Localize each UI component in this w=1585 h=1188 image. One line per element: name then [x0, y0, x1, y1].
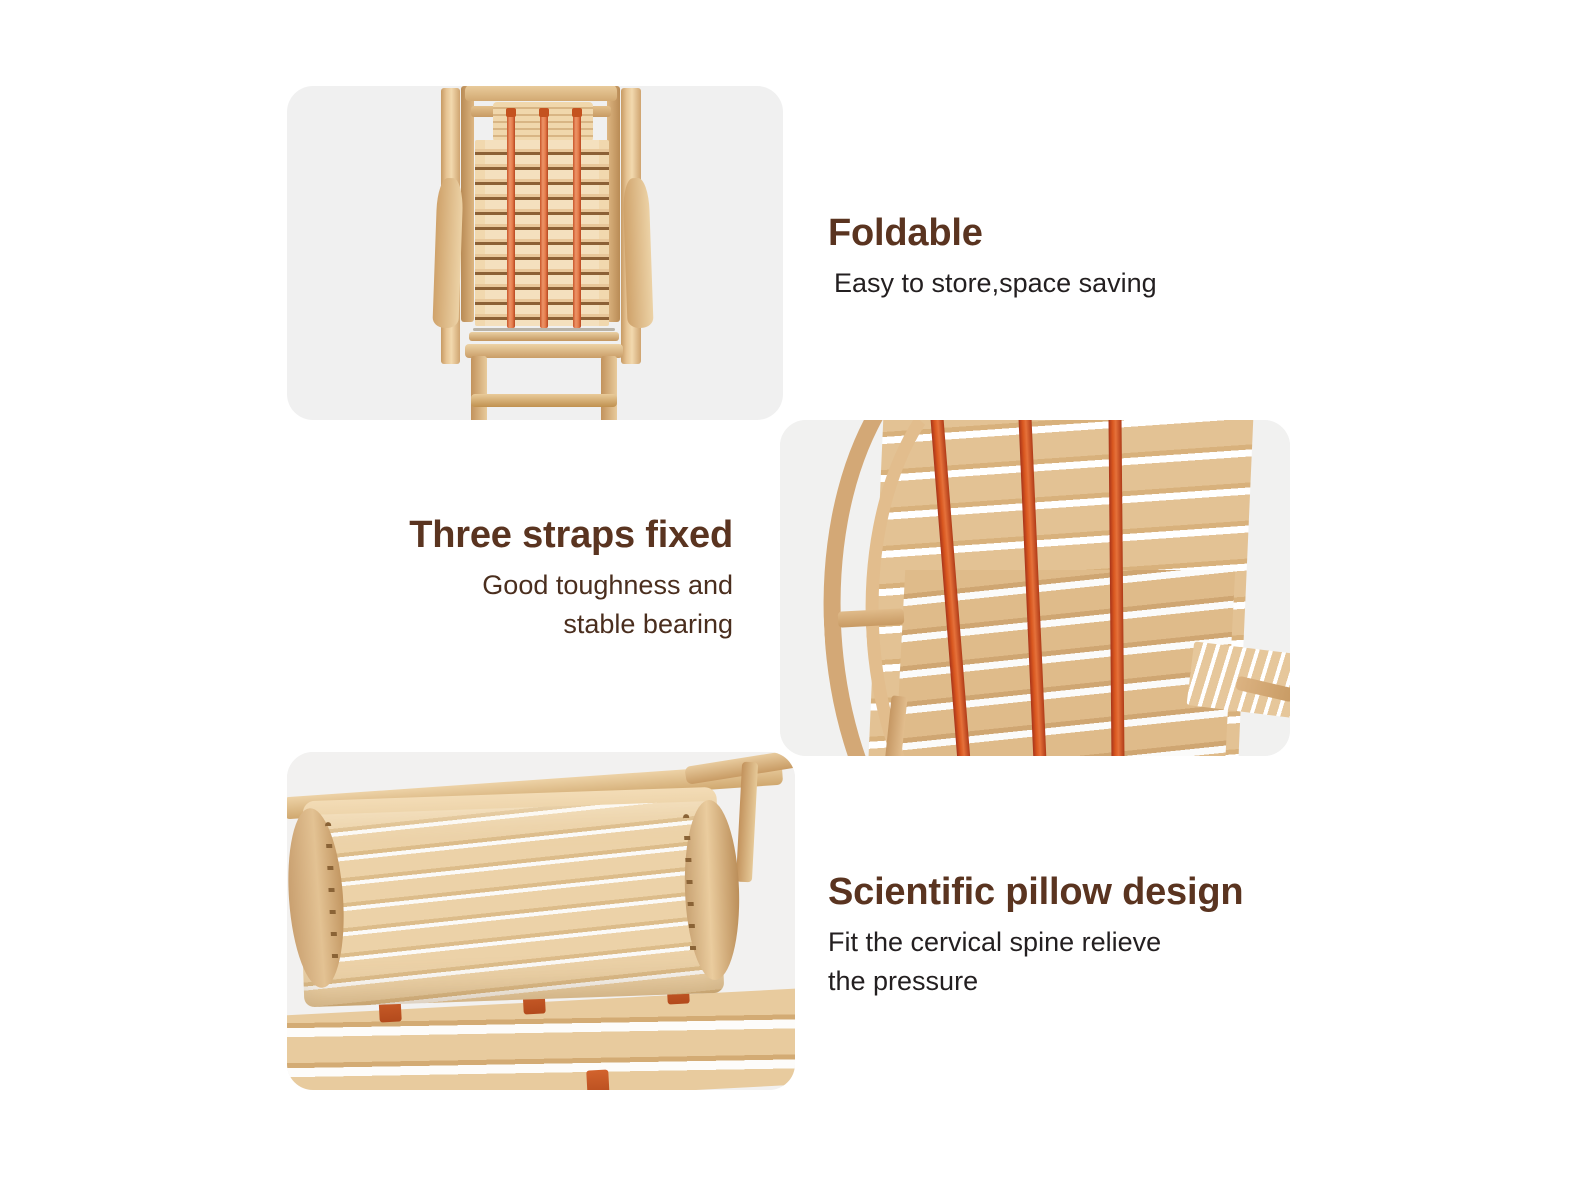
feature-subline-pillow-line1: Fit the cervical spine relieve [828, 924, 1298, 961]
chair-leg-right [601, 356, 617, 420]
chair-strap-2 [540, 110, 548, 328]
photo-folded-chair [287, 86, 783, 420]
feature-subline-pillow-line2: the pressure [828, 963, 1298, 1000]
pillow-roll-body [298, 801, 724, 1008]
feature-subline-three-straps-line2: stable bearing [333, 606, 733, 643]
chair-strap-buckle-3 [572, 108, 582, 117]
chair-frame-post-left-inner [461, 86, 474, 322]
feature-headline-three-straps: Three straps fixed [333, 515, 733, 557]
chair-strap-3 [573, 110, 581, 328]
photo-pillow-closeup [287, 752, 795, 1090]
chair-support-wire [473, 328, 615, 331]
chair-strap-buckle-2 [539, 108, 549, 117]
feature-headline-pillow: Scientific pillow design [828, 872, 1298, 914]
feature-image-pillow [287, 752, 795, 1090]
chair-top-rail [465, 86, 617, 101]
chair-leg-left [471, 356, 487, 420]
feature-subline-three-straps-line1: Good toughness and [333, 567, 733, 604]
chair-strap-buckle-1 [506, 108, 516, 117]
chair-strap-1 [507, 110, 515, 328]
feature-image-foldable [287, 86, 783, 420]
feature-subline-foldable: Easy to store,space saving [834, 265, 1248, 302]
photo-strap-closeup [780, 420, 1290, 756]
chair-armrest-right [622, 178, 653, 329]
feature-text-three-straps: Three straps fixed Good toughness and st… [333, 515, 733, 643]
feature-image-three-straps [780, 420, 1290, 756]
chair-lower-rail-secondary [465, 344, 623, 358]
strap-tab-4 [586, 1069, 610, 1090]
chair-foot-rail [471, 394, 617, 407]
feature-text-pillow: Scientific pillow design Fit the cervica… [828, 872, 1298, 1000]
chair-lower-rail [469, 332, 619, 341]
feature-text-foldable: Foldable Easy to store,space saving [828, 213, 1248, 302]
chair-armrest-left [432, 178, 463, 329]
feature-headline-foldable: Foldable [828, 213, 1248, 255]
